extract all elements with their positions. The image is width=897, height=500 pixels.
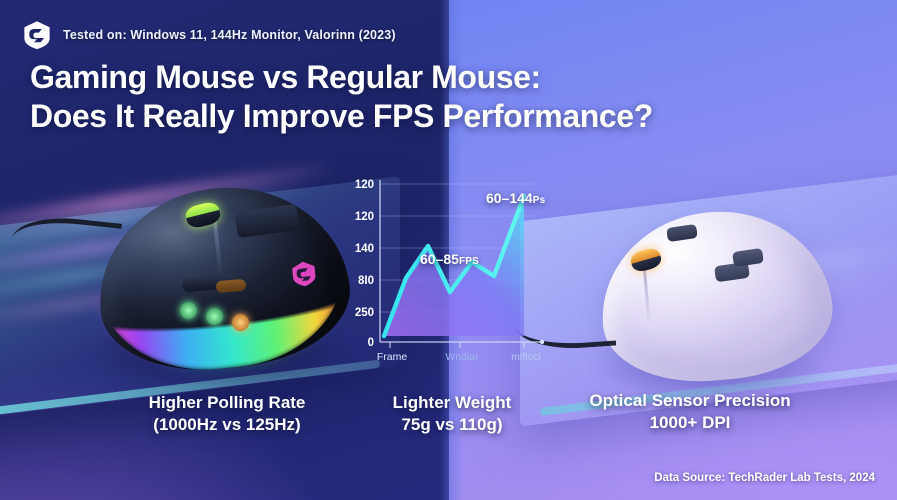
chart-x-tick: Frame bbox=[377, 351, 407, 360]
chart-y-tick-labels: 120 120 140 8I0 250 0 bbox=[355, 179, 374, 349]
caption-polling-rate: Higher Polling Rate (1000Hz vs 125Hz) bbox=[82, 392, 372, 436]
headline-line-2: Does It Really Improve FPS Performance? bbox=[30, 97, 670, 136]
chart-annotation-mid-value: 60–85 bbox=[420, 251, 459, 267]
fps-line-chart: 120 120 140 8I0 250 0 Frame Wndiar miflo… bbox=[336, 170, 566, 360]
chart-x-ticks bbox=[390, 342, 524, 348]
regular-mouse-image bbox=[575, 192, 855, 407]
chart-x-tick: mifloci bbox=[511, 351, 541, 360]
caption-weight: Lighter Weight 75g vs 110g) bbox=[352, 392, 552, 436]
chart-y-tick: 8I0 bbox=[358, 275, 374, 287]
headline-line-1: Gaming Mouse vs Regular Mouse: bbox=[30, 59, 541, 95]
chart-annotation-top-unit: Ps bbox=[533, 195, 546, 206]
gaming-mouse-image bbox=[58, 168, 378, 393]
chart-annotation-top: 60–144Ps bbox=[486, 190, 545, 206]
kicker-bar: Tested on: Windows 11, 144Hz Monitor, Va… bbox=[22, 20, 396, 50]
shield-g-logo-icon bbox=[22, 20, 52, 50]
data-source-footer: Data Source: TechRader Lab Tests, 2024 bbox=[654, 472, 875, 484]
caption-title: Optical Sensor Precision bbox=[545, 390, 835, 412]
led-indicator bbox=[206, 308, 223, 325]
chart-x-tick-labels: Frame Wndiar mifloci bbox=[377, 351, 541, 360]
caption-title: Higher Polling Rate bbox=[82, 392, 372, 414]
infographic-canvas: Tested on: Windows 11, 144Hz Monitor, Va… bbox=[0, 0, 897, 500]
chart-y-tick: 120 bbox=[355, 179, 374, 191]
chart-annotation-top-value: 60–144 bbox=[486, 190, 533, 206]
chart-annotation-mid-unit: FPS bbox=[459, 256, 479, 267]
caption-title: Lighter Weight bbox=[352, 392, 552, 414]
chart-axis-end-dot bbox=[540, 340, 544, 344]
caption-subtitle: 1000+ DPI bbox=[545, 412, 835, 434]
chart-y-tick: 0 bbox=[368, 337, 374, 349]
page-title: Gaming Mouse vs Regular Mouse: Does It R… bbox=[30, 58, 670, 136]
caption-subtitle: 75g vs 110g) bbox=[352, 414, 552, 436]
chart-y-tick: 140 bbox=[355, 243, 374, 255]
caption-subtitle: (1000Hz vs 125Hz) bbox=[82, 414, 372, 436]
led-indicator bbox=[180, 302, 197, 319]
chart-x-tick: Wndiar bbox=[445, 351, 479, 360]
chart-y-tick: 250 bbox=[355, 307, 374, 319]
led-indicator bbox=[232, 314, 249, 331]
chart-annotation-mid: 60–85FPS bbox=[420, 251, 479, 267]
mouse-brand-logo-icon bbox=[289, 259, 320, 290]
caption-sensor: Optical Sensor Precision 1000+ DPI bbox=[545, 390, 835, 434]
kicker-text: Tested on: Windows 11, 144Hz Monitor, Va… bbox=[63, 28, 396, 42]
chart-y-tick: 120 bbox=[355, 211, 374, 223]
